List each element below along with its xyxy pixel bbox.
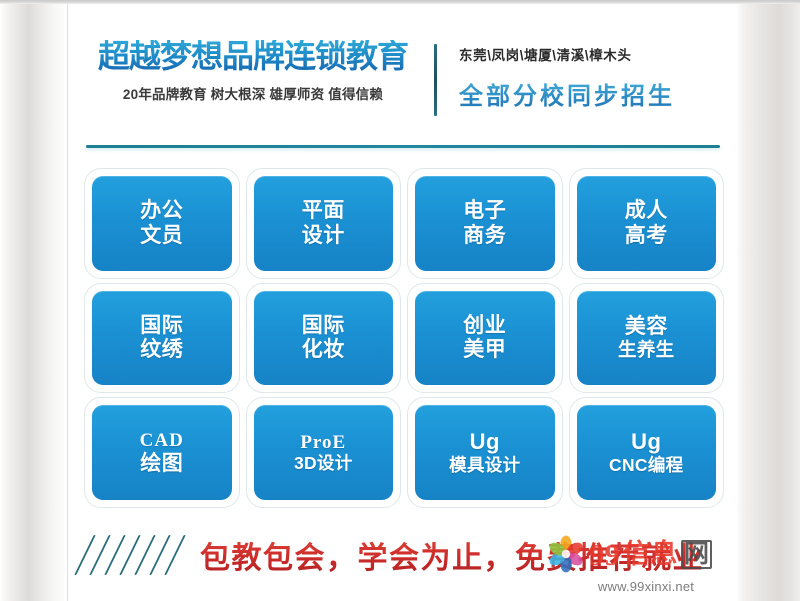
left-page-edge — [0, 4, 68, 601]
course-tile-line2: 绘图 — [140, 452, 183, 476]
course-tile-line1: 国际 — [302, 314, 345, 338]
course-grid: 办公文员平面设计电子商务成人高考国际纹绣国际化妆创业美甲美容生养生CAD绘图Pr… — [84, 168, 724, 508]
course-tile-line1: CAD — [140, 430, 184, 451]
course-tile-line1: Ug — [470, 430, 500, 455]
enrollment-headline: 全部分校同步招生 — [459, 76, 675, 111]
course-tile-line2: 美甲 — [463, 338, 506, 362]
course-tile-line1: 成人 — [625, 199, 668, 223]
course-tile-line2: 生养生 — [618, 340, 674, 361]
course-tile-line1: 创业 — [463, 314, 506, 338]
course-tile-body[interactable]: UgCNC编程 — [577, 405, 717, 500]
bottom-banner: 包教包会，学会为止，免费推荐就业 — [68, 520, 736, 590]
header-right-block: 东莞\凤岗\塘厦\清溪\樟木头 全部分校同步招生 — [437, 40, 736, 111]
course-tile-body[interactable]: CAD绘图 — [92, 405, 232, 500]
course-tile-body[interactable]: 平面设计 — [254, 176, 394, 271]
diagonal-stripes-icon — [78, 535, 186, 575]
course-tile[interactable]: 国际化妆 — [246, 283, 402, 394]
course-tile-line2: 模具设计 — [449, 456, 520, 476]
banner-slogan: 包教包会，学会为止，免费推荐就业 — [200, 533, 704, 577]
course-tile-body[interactable]: Ug模具设计 — [415, 405, 555, 500]
course-tile-line2: 3D设计 — [294, 454, 353, 474]
header-rule — [86, 145, 720, 148]
course-tile-line1: 电子 — [463, 199, 506, 223]
course-tile-body[interactable]: ProE3D设计 — [254, 405, 394, 500]
course-tile[interactable]: 创业美甲 — [407, 283, 563, 394]
course-tile-line2: 纹绣 — [140, 338, 183, 362]
course-tile-line1: ProE — [300, 432, 346, 453]
course-tile-line1: 国际 — [140, 314, 183, 338]
poster-image: 超越梦想品牌连锁教育 20年品牌教育 树大根深 雄厚师资 值得信赖 东莞\凤岗\… — [0, 0, 800, 601]
course-tile[interactable]: 美容生养生 — [569, 283, 725, 394]
course-tile-line2: 商务 — [463, 224, 506, 248]
course-tile-body[interactable]: 成人高考 — [577, 176, 717, 271]
course-tile[interactable]: Ug模具设计 — [407, 397, 563, 508]
course-tile-body[interactable]: 美容生养生 — [577, 291, 717, 386]
course-tile[interactable]: ProE3D设计 — [246, 397, 402, 508]
course-tile[interactable]: 平面设计 — [246, 168, 402, 279]
course-tile-line1: 办公 — [140, 199, 183, 223]
brand-subtitle: 20年品牌教育 树大根深 雄厚师资 值得信赖 — [123, 83, 383, 103]
poster-header: 超越梦想品牌连锁教育 20年品牌教育 树大根深 雄厚师资 值得信赖 东莞\凤岗\… — [68, 40, 736, 130]
course-tile-body[interactable]: 国际化妆 — [254, 291, 394, 386]
course-tile-line1: 平面 — [302, 199, 345, 223]
brand-title: 超越梦想品牌连锁教育 — [98, 40, 408, 74]
course-tile-body[interactable]: 办公文员 — [92, 176, 232, 271]
course-tile-line2: 化妆 — [302, 338, 345, 362]
course-tile-line2: 文员 — [140, 224, 183, 248]
branch-list: 东莞\凤岗\塘厦\清溪\樟木头 — [459, 44, 632, 64]
right-page-edge — [736, 4, 800, 601]
course-tile[interactable]: 国际纹绣 — [84, 283, 240, 394]
header-left-block: 超越梦想品牌连锁教育 20年品牌教育 树大根深 雄厚师资 值得信赖 — [68, 40, 434, 103]
course-tile-body[interactable]: 创业美甲 — [415, 291, 555, 386]
course-tile-body[interactable]: 电子商务 — [415, 176, 555, 271]
course-tile[interactable]: 电子商务 — [407, 168, 563, 279]
course-tile[interactable]: 办公文员 — [84, 168, 240, 279]
course-tile-line2: 高考 — [625, 224, 668, 248]
course-tile[interactable]: 成人高考 — [569, 168, 725, 279]
course-tile-line2: CNC编程 — [609, 456, 683, 476]
course-tile[interactable]: CAD绘图 — [84, 397, 240, 508]
course-tile[interactable]: UgCNC编程 — [569, 397, 725, 508]
course-tile-line2: 设计 — [302, 224, 345, 248]
course-tile-line1: Ug — [631, 430, 661, 455]
course-tile-body[interactable]: 国际纹绣 — [92, 291, 232, 386]
poster-page: 超越梦想品牌连锁教育 20年品牌教育 树大根深 雄厚师资 值得信赖 东莞\凤岗\… — [68, 4, 736, 601]
course-tile-line1: 美容 — [625, 315, 668, 339]
